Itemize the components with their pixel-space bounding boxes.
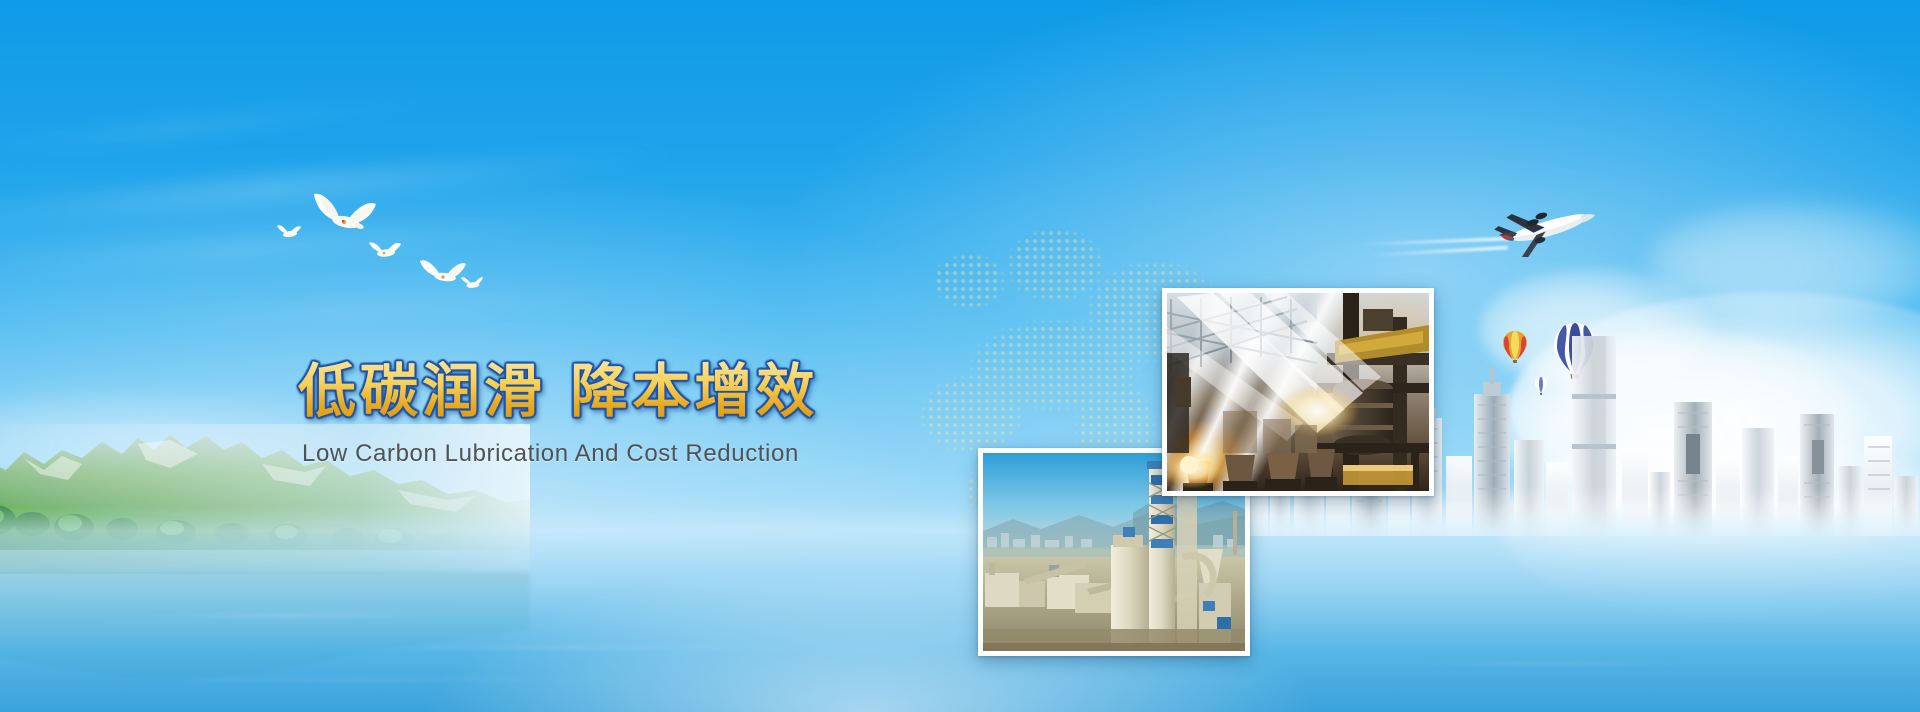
cloud	[1650, 200, 1920, 320]
balloon-tiny-distant-icon	[1534, 376, 1548, 398]
sea-water	[0, 506, 1920, 712]
balloon-large-blue-white-striped-icon	[1552, 322, 1598, 388]
cloud	[1510, 292, 1920, 522]
dove-small-left-icon	[276, 222, 302, 242]
headline-english: Low Carbon Lubrication And Cost Reductio…	[302, 440, 818, 468]
light-streak	[120, 284, 660, 333]
contrail	[1368, 246, 1508, 257]
dove-small-right-icon	[460, 274, 484, 292]
dove-mid-right-icon	[418, 256, 468, 290]
photo-steel-mill[interactable]	[1162, 288, 1434, 496]
headline-chinese: 低碳润滑 降本增效	[298, 360, 818, 424]
cloud	[1500, 330, 1860, 520]
cloud	[1480, 268, 1710, 388]
contrail	[1360, 237, 1510, 246]
hero-banner: 低碳润滑 降本增效 Low Carbon Lubrication And Cos…	[0, 0, 1920, 712]
light-streak	[0, 214, 580, 277]
light-streak	[0, 91, 459, 161]
cloud	[0, 392, 340, 488]
headline-block: 低碳润滑 降本增效 Low Carbon Lubrication And Cos…	[298, 360, 818, 468]
balloon-small-warm-striped-icon	[1502, 330, 1528, 370]
dove-large-icon	[310, 188, 380, 242]
dove-medium-icon	[368, 238, 402, 264]
light-streak	[0, 138, 700, 232]
airplane-icon	[1486, 185, 1606, 265]
